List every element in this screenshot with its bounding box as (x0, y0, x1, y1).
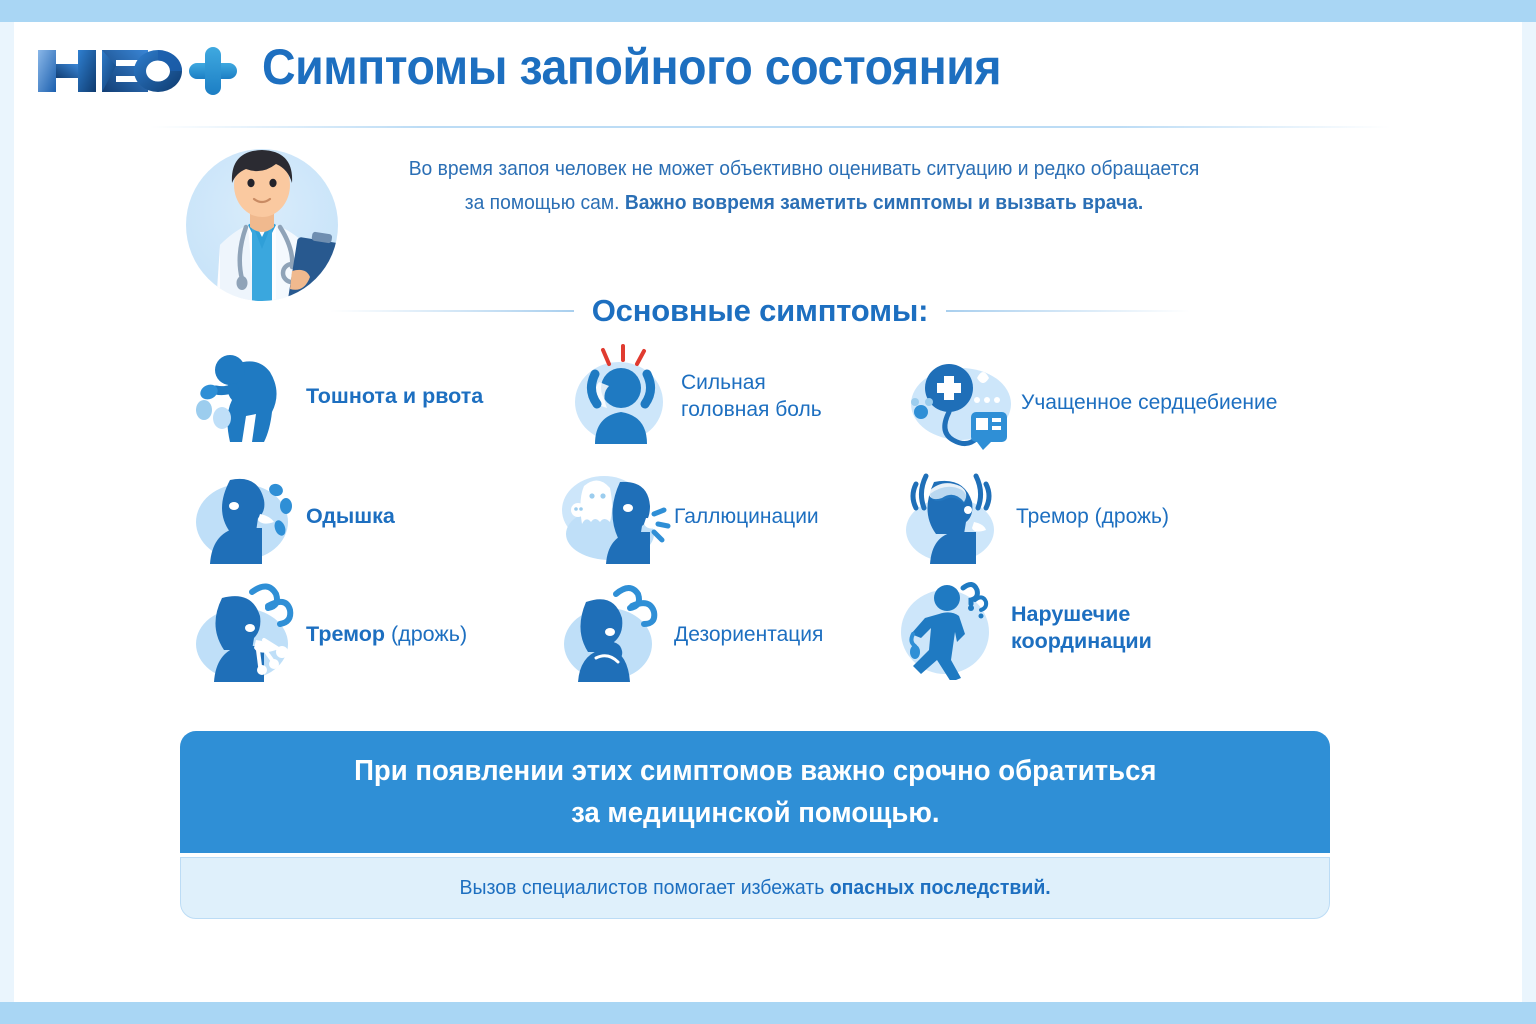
section-header: Основные симптомы: (330, 288, 1190, 334)
symptom-item-heartbeat[interactable]: Учащенное сердцебиение (905, 350, 1277, 454)
hallucinations-icon (558, 464, 674, 568)
bottom-accent-bar (0, 1002, 1536, 1024)
doctor-illustration (180, 133, 346, 305)
intro-line-2a: за помощью сам. (465, 191, 625, 214)
symptom-label: Галлюцинации (674, 503, 819, 530)
section-rule-left (330, 310, 574, 312)
symptom-item-disorientation[interactable]: Дезориентация (558, 582, 823, 686)
symptom-label: Нарушечие координации (1011, 601, 1152, 655)
symptom-label: Тремор (дрожь) (1016, 503, 1169, 530)
section-rule-right (946, 310, 1190, 312)
shortness-of-breath-icon (190, 464, 306, 568)
call-to-action-banner: При появлении этих симптомов важно срочн… (180, 731, 1330, 853)
infographic-page: Симптомы запойного состояния (0, 0, 1536, 1024)
footer-note-emphasis: опасных последствий. (830, 876, 1051, 899)
symptom-label: Сильная головная боль (681, 369, 822, 423)
header-divider (150, 126, 1390, 128)
banner-text: При появлении этих симптомов важно срочн… (354, 750, 1156, 834)
symptom-label: Учащенное сердцебиение (1021, 389, 1277, 416)
intro-line-1: Во время запоя человек не может объектив… (409, 157, 1200, 180)
section-title: Основные симптомы: (592, 293, 929, 329)
symptom-item-tremor-sweat[interactable]: Тремор (дрожь) (190, 582, 467, 686)
symptom-item-tremor-head[interactable]: Тремор (дрожь) (900, 464, 1169, 568)
symptom-item-hallucinations[interactable]: Галлюцинации (558, 464, 819, 568)
symptom-label-main: Тремор (306, 622, 385, 646)
symptom-grid: Тошнота и рвота Сильная головная боль (180, 344, 1360, 704)
symptom-label: Тремор (дрожь) (306, 621, 467, 648)
symptom-item-shortness-of-breath[interactable]: Одышка (190, 464, 395, 568)
heartbeat-monitor-icon (905, 350, 1021, 454)
intro-paragraph: Во время запоя человек не может объектив… (347, 152, 1261, 220)
tremor-head-icon (900, 464, 1016, 568)
footer-note-bar: Вызов специалистов помогает избежать опа… (180, 857, 1330, 919)
coordination-icon (895, 576, 1011, 680)
top-accent-bar (0, 0, 1536, 22)
right-margin-strip (1522, 22, 1536, 1002)
header: Симптомы запойного состояния (0, 22, 1536, 122)
symptom-item-nausea[interactable]: Тошнота и рвота (190, 344, 483, 448)
headache-icon (565, 344, 681, 448)
intro-line-2b: Важно вовремя заметить симптомы и вызват… (625, 191, 1143, 214)
symptom-item-headache[interactable]: Сильная головная боль (565, 344, 822, 448)
symptom-label-suffix: (дрожь) (385, 622, 467, 646)
footer-note-text: Вызов специалистов помогает избежать опа… (459, 876, 1050, 900)
symptom-label: Тошнота и рвота (306, 383, 483, 410)
vomiting-icon (190, 344, 306, 448)
symptom-label: Дезориентация (674, 621, 823, 648)
left-margin-strip (0, 22, 14, 1002)
page-title: Симптомы запойного состояния (262, 38, 1001, 96)
symptom-label: Одышка (306, 503, 395, 530)
symptom-item-coordination[interactable]: Нарушечие координации (895, 576, 1152, 680)
tremor-sweat-icon (190, 582, 306, 686)
footer-note-prefix: Вызов специалистов помогает избежать (459, 876, 829, 899)
neo-plus-logo (34, 40, 244, 102)
disorientation-icon (558, 582, 674, 686)
